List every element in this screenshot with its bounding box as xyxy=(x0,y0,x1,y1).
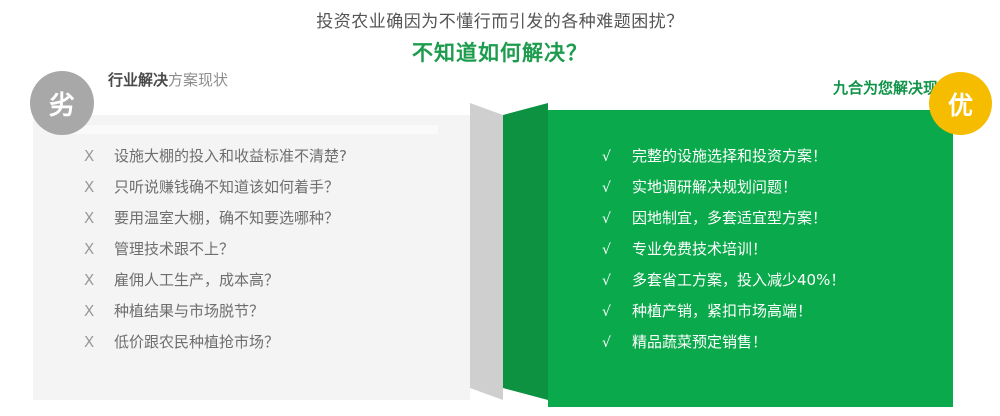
check-icon: √ xyxy=(602,204,632,235)
list-item: √ 多套省工方案，投入减少40%！ xyxy=(602,265,845,296)
comparison-banner: 投资农业确因为不懂行而引发的各种难题困扰？ 不知道如何解决？ 行业解决方案现状 … xyxy=(0,0,1000,416)
list-item-label: 精品蔬菜预定销售！ xyxy=(632,327,767,358)
badge-superior: 优 xyxy=(929,72,992,135)
list-item-label: 实地调研解决规划问题！ xyxy=(632,172,797,203)
headline-line-1: 投资农业确因为不懂行而引发的各种难题困扰？ xyxy=(0,10,1000,34)
cross-icon: X xyxy=(84,265,114,296)
list-item-label: 专业免费技术培训！ xyxy=(632,234,767,265)
check-icon: √ xyxy=(602,173,632,204)
check-icon: √ xyxy=(602,328,632,359)
list-item: √ 精品蔬菜预定销售！ xyxy=(602,327,845,358)
solution-list: √ 完整的设施选择和投资方案！ √ 实地调研解决规划问题！ √ 因地制宜，多套适… xyxy=(602,141,845,358)
list-item-label: 种植结果与市场脱节？ xyxy=(114,296,264,327)
list-item-label: 低价跟农民种植抢市场？ xyxy=(114,327,279,358)
cross-icon: X xyxy=(84,296,114,327)
list-item: X 管理技术跟不上？ xyxy=(84,234,347,265)
badge-inferior: 劣 xyxy=(30,71,94,135)
check-icon: √ xyxy=(602,142,632,173)
list-item: √ 实地调研解决规划问题！ xyxy=(602,172,845,203)
list-item: √ 种植产销，紧扣市场高端！ xyxy=(602,296,845,327)
list-item-label: 只听说赚钱确不知道该如何着手？ xyxy=(114,172,339,203)
list-item-label: 因地制宜，多套适宜型方案！ xyxy=(632,203,827,234)
check-icon: √ xyxy=(602,297,632,328)
list-item: √ 完整的设施选择和投资方案！ xyxy=(602,141,845,172)
list-item-label: 雇佣人工生产，成本高？ xyxy=(114,265,279,296)
cross-icon: X xyxy=(84,203,114,234)
check-icon: √ xyxy=(602,266,632,297)
list-item: √ 专业免费技术培训！ xyxy=(602,234,845,265)
list-item-label: 设施大棚的投入和收益标准不清楚? xyxy=(114,141,347,172)
problem-list: X 设施大棚的投入和收益标准不清楚? X 只听说赚钱确不知道该如何着手？ X 要… xyxy=(84,141,347,358)
list-item: X 设施大棚的投入和收益标准不清楚? xyxy=(84,141,347,172)
headline-block: 投资农业确因为不懂行而引发的各种难题困扰？ 不知道如何解决？ xyxy=(0,10,1000,68)
left-panel-header-strong: 行业解决 xyxy=(108,71,168,89)
list-item-label: 管理技术跟不上？ xyxy=(114,234,234,265)
list-item: X 种植结果与市场脱节？ xyxy=(84,296,347,327)
green-ribbon-fold xyxy=(503,103,548,400)
cross-icon: X xyxy=(84,234,114,265)
left-panel-header: 行业解决方案现状 xyxy=(108,70,228,90)
list-item: X 要用温室大棚，确不知要选哪种？ xyxy=(84,203,347,234)
cross-icon: X xyxy=(84,172,114,203)
list-item: X 雇佣人工生产，成本高？ xyxy=(84,265,347,296)
cross-icon: X xyxy=(84,141,114,172)
cross-icon: X xyxy=(84,327,114,358)
left-panel-header-weak: 方案现状 xyxy=(168,71,228,89)
list-item: X 只听说赚钱确不知道该如何着手？ xyxy=(84,172,347,203)
gray-ribbon-fold xyxy=(470,103,503,400)
list-item-label: 要用温室大棚，确不知要选哪种？ xyxy=(114,203,339,234)
list-item-label: 多套省工方案，投入减少40%！ xyxy=(632,265,845,296)
check-icon: √ xyxy=(602,235,632,266)
left-panel-highlight-strip xyxy=(70,125,438,134)
list-item: √ 因地制宜，多套适宜型方案！ xyxy=(602,203,845,234)
list-item-label: 完整的设施选择和投资方案！ xyxy=(632,141,827,172)
list-item-label: 种植产销，紧扣市场高端！ xyxy=(632,296,812,327)
list-item: X 低价跟农民种植抢市场？ xyxy=(84,327,347,358)
headline-line-2: 不知道如何解决？ xyxy=(0,38,1000,68)
